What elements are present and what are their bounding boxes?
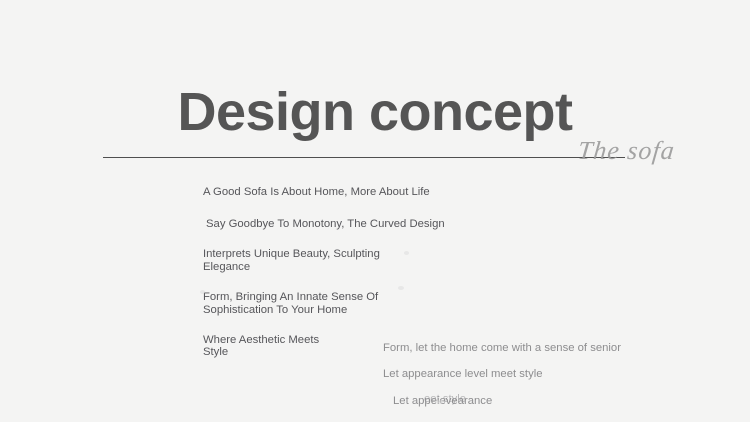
artifact-smudge [200, 290, 205, 294]
artifact-smudge [404, 251, 409, 255]
concept-text-block: A Good Sofa Is About Home, More About Li… [203, 186, 463, 359]
title-divider [103, 157, 625, 158]
subtitle-text-block: Form, let the home come with a sense of … [383, 342, 683, 408]
slide-canvas: Design concept The sofa A Good Sofa Is A… [0, 0, 750, 422]
concept-line: Interprets Unique Beauty, Sculpting Eleg… [203, 248, 463, 273]
artifact-smudge [437, 400, 443, 404]
concept-line: Form, Bringing An Innate Sense Of Sophis… [203, 291, 463, 316]
subtitle-line-ghost-overlay: eet style [424, 393, 466, 406]
script-brand-mark: The sofa [576, 136, 676, 166]
page-title: Design concept [0, 82, 750, 142]
subtitle-line: Form, let the home come with a sense of … [383, 342, 683, 355]
artifact-smudge [398, 286, 404, 290]
subtitle-line: Let appearance level meet style [383, 368, 683, 381]
concept-line: Say Goodbye To Monotony, The Curved Desi… [206, 218, 463, 231]
concept-line: A Good Sofa Is About Home, More About Li… [203, 186, 463, 199]
